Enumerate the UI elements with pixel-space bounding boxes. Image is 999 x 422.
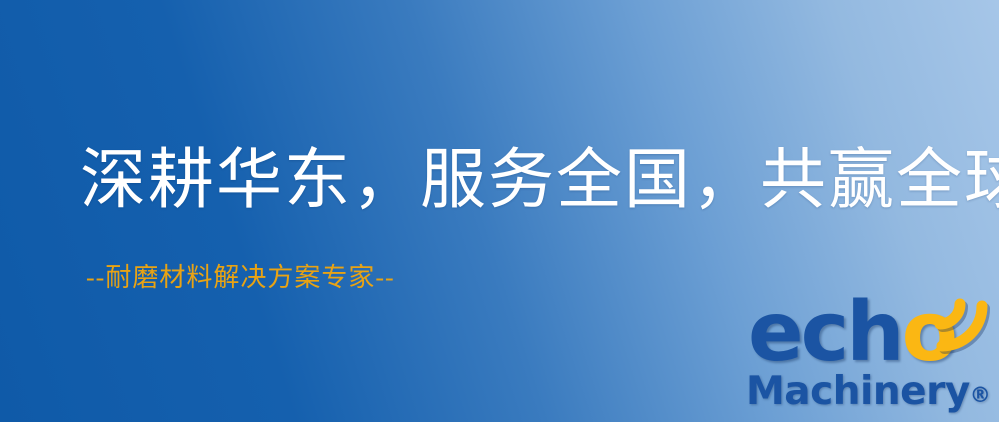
registered-trademark-icon: ®	[970, 383, 991, 407]
logo-wordmark: echo	[748, 292, 955, 374]
logo-subtext: Machinery®	[746, 372, 990, 411]
echo-machinery-logo: echo Machinery®	[744, 292, 999, 422]
promo-banner: 深耕华东，服务全国，共赢全球 --耐磨材料解决方案专家-- echo Machi…	[0, 0, 999, 422]
logo-subtext-label: Machinery	[746, 369, 970, 414]
banner-subtitle: --耐磨材料解决方案专家--	[86, 265, 395, 291]
banner-headline: 深耕华东，服务全国，共赢全球	[80, 148, 999, 214]
logo-wordmark-primary: ech	[748, 285, 902, 380]
signal-arcs-icon	[926, 290, 998, 356]
